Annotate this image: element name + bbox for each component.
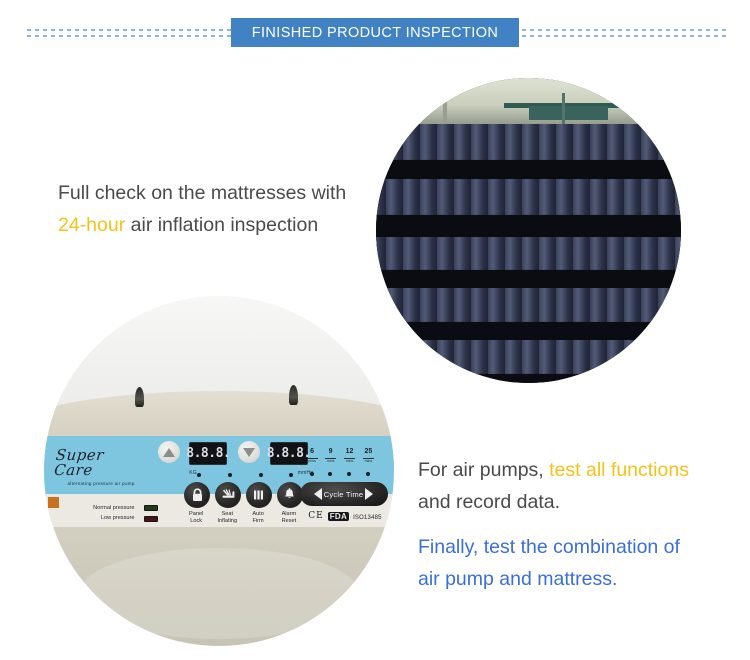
top-description-line1: Full check on the mattresses with xyxy=(58,178,378,210)
cycle-time-option-12: 12 xyxy=(342,448,358,455)
mattress-strap xyxy=(376,270,681,288)
right-description-block: For air pumps, test all functions and re… xyxy=(418,455,748,595)
iso-mark: ISO13485 xyxy=(353,515,382,521)
header-dash-left-upper xyxy=(27,29,239,31)
ceiling-post-left xyxy=(443,87,447,127)
air-cell-row xyxy=(376,124,681,161)
triangle-down-icon xyxy=(243,448,255,457)
panel-lock-button[interactable] xyxy=(184,482,210,508)
certification-marks: CE FDA ISO13485 xyxy=(308,511,381,521)
top-description-block: Full check on the mattresses with 24-hou… xyxy=(58,178,378,241)
cycle-time-option-6: 6 xyxy=(304,448,320,455)
cycle-underline xyxy=(344,458,355,459)
mattress-strap xyxy=(376,322,681,340)
cycle-time-unit-25: mins xyxy=(360,459,376,463)
cycle-underline xyxy=(325,458,336,459)
header-dash-right-lower xyxy=(522,35,728,37)
ceiling-rack xyxy=(529,106,608,120)
air-cell-row xyxy=(376,179,681,216)
weight-display: 8.8.8. xyxy=(189,442,227,465)
right-paragraph1-line2: and record data. xyxy=(418,487,748,519)
section-title-text: FINISHED PRODUCT INSPECTION xyxy=(252,25,499,41)
cycle-time-unit-9: mins xyxy=(323,459,339,463)
padlock-icon xyxy=(191,488,204,502)
right-paragraph1-highlight: test all functions xyxy=(549,459,689,481)
air-cell-row xyxy=(376,237,681,271)
weight-display-value: 8.8.8. xyxy=(186,447,230,460)
pump-brand-name: Super Care xyxy=(53,448,147,478)
top-description-line2-rest: air inflation inspection xyxy=(125,214,318,236)
cycle-time-option-9: 9 xyxy=(323,448,339,455)
pump-orange-indicator xyxy=(48,497,59,508)
pressure-increase-button[interactable] xyxy=(158,441,180,463)
ceiling-post-right xyxy=(562,93,565,127)
page-header: FINISHED PRODUCT INSPECTION xyxy=(0,0,750,62)
header-dash-right-upper xyxy=(522,29,728,31)
air-cell-row xyxy=(376,288,681,322)
fda-mark: FDA xyxy=(328,512,349,521)
section-title-banner: FINISHED PRODUCT INSPECTION xyxy=(231,18,519,47)
factory-ceiling-background xyxy=(376,78,681,127)
panel-lock-indicator-dot xyxy=(197,473,201,477)
mattress-photo-circle xyxy=(376,78,681,383)
right-paragraph1-prefix: For air pumps, xyxy=(418,459,549,481)
mattress-strap xyxy=(376,160,681,178)
triangle-up-icon xyxy=(163,448,175,457)
pump-brand-block: Super Care alternating pressure air pump xyxy=(55,448,146,486)
bars-icon xyxy=(252,489,265,501)
low-pressure-label: Low pressure xyxy=(83,515,135,521)
low-pressure-led xyxy=(144,516,158,522)
mattress-strap xyxy=(376,374,681,383)
ce-mark: CE xyxy=(308,511,323,521)
top-description-highlight: 24-hour xyxy=(58,214,125,236)
pump-brand-subtitle: alternating pressure air pump xyxy=(68,481,146,486)
seat-inflating-indicator-dot xyxy=(228,473,232,477)
cycle-time-unit-12: mins xyxy=(342,459,358,463)
cycle-time-unit-6: mins xyxy=(304,459,320,463)
pump-hanger-hook-right xyxy=(289,385,298,405)
seat-inflating-button[interactable] xyxy=(215,482,241,508)
cycle-time-next-icon[interactable] xyxy=(365,488,373,500)
auto-firm-indicator-dot xyxy=(259,473,263,477)
cycle-time-selector[interactable]: Cycle Time xyxy=(300,482,388,506)
pump-housing-highlight xyxy=(79,548,359,639)
mattress-strap xyxy=(376,215,681,236)
normal-pressure-led xyxy=(144,505,158,511)
air-pump-photo-circle: Super Care alternating pressure air pump… xyxy=(44,296,394,646)
cycle-time-previous-icon[interactable] xyxy=(314,488,322,500)
normal-pressure-label: Normal pressure xyxy=(83,505,135,511)
right-paragraph2-line2: air pump and mattress. xyxy=(418,564,748,596)
header-dash-left-lower xyxy=(27,35,239,37)
bell-icon xyxy=(283,488,296,501)
right-paragraph1-line1: For air pumps, test all functions xyxy=(418,455,748,487)
air-cell-row xyxy=(376,340,681,374)
seat-icon xyxy=(221,488,236,501)
right-paragraph2-line1: Finally, test the combination of xyxy=(418,532,748,564)
pump-hanger-hook-left xyxy=(135,387,144,407)
auto-firm-button[interactable] xyxy=(246,482,272,508)
weight-unit-label: KG xyxy=(189,470,197,476)
alarm-reset-label: Alarm Reset xyxy=(266,511,312,525)
cycle-underline xyxy=(363,458,374,459)
cycle-time-label: Cycle Time xyxy=(324,490,364,499)
cycle-time-option-25: 25 xyxy=(360,448,376,455)
cycle-underline xyxy=(307,458,318,459)
top-description-line2: 24-hour air inflation inspection xyxy=(58,210,378,242)
pressure-display: 8.8.8. xyxy=(270,442,308,465)
alarm-reset-button[interactable] xyxy=(277,482,303,508)
